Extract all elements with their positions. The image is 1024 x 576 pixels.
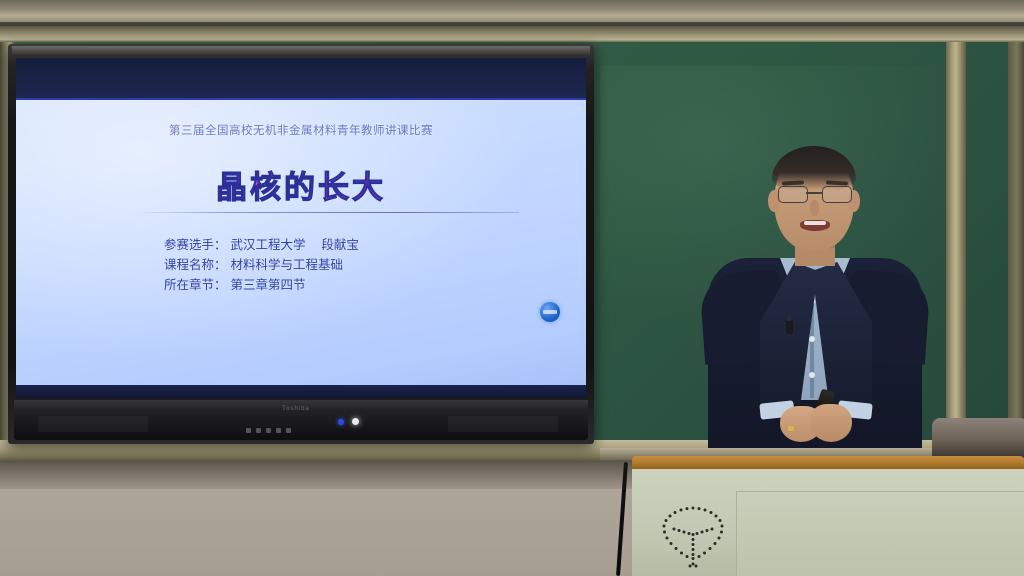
laptop-icon [932, 418, 1024, 458]
presenter-mouth [800, 220, 830, 231]
letterbox-bottom [16, 385, 586, 398]
blue-circular-watermark-logo-icon [540, 302, 560, 322]
slide-info-line-course: 课程名称： 材料科学与工程基础 [164, 255, 584, 275]
display-top-highlight [12, 46, 590, 56]
status-led-white-icon [352, 418, 359, 425]
power-button[interactable] [246, 428, 251, 433]
slide-title: 晶核的长大 [16, 162, 586, 207]
slide-divider-rule [136, 212, 519, 213]
source-button[interactable] [266, 428, 271, 433]
presenter-ring-icon [788, 426, 794, 431]
presenter-nose [810, 200, 819, 216]
podium [632, 456, 1024, 576]
slide-info-block: 参赛选手： 武汉工程大学 段献宝 课程名称： 材料科学与工程基础 所在章节： 第… [164, 235, 584, 295]
chalkboard-right-edge [1008, 40, 1024, 440]
letterbox-top [16, 58, 586, 98]
interactive-flat-panel-display[interactable]: 第三届全国高校无机非金属材料青年教师讲课比赛 晶核的长大 参赛选手： 武汉工程大… [8, 44, 594, 444]
podium-inset-panel [736, 491, 1024, 576]
presenter-shirt-button [809, 336, 815, 342]
slide-info-line-chapter: 所在章节： 第三章第四节 [164, 275, 584, 295]
eyeglasses-bridge [806, 192, 822, 194]
eyeglasses-lens-left [778, 186, 808, 203]
volume-up-button[interactable] [286, 428, 291, 433]
podium-wood-top [632, 456, 1024, 470]
display-brand-label: Toshiba [266, 406, 326, 412]
menu-button[interactable] [256, 428, 261, 433]
volume-down-button[interactable] [276, 428, 281, 433]
presentation-slide[interactable]: 第三届全国高校无机非金属材料青年教师讲课比赛 晶核的长大 参赛选手： 武汉工程大… [16, 98, 586, 385]
eyeglasses-lens-right [822, 186, 852, 203]
presenter [700, 140, 930, 470]
chalkboard-vertical-divider [946, 40, 966, 440]
lapel-microphone-icon [786, 320, 793, 334]
presenter-shirt-button [809, 372, 815, 378]
display-speaker-left [38, 416, 148, 432]
slide-competition-header: 第三届全国高校无机非金属材料青年教师讲课比赛 [16, 122, 586, 138]
chalkboard-top-rail [0, 26, 1024, 42]
slide-info-line-contestant: 参赛选手： 武汉工程大学 段献宝 [164, 235, 584, 255]
presenter-hand-right [810, 404, 852, 442]
power-led-blue-icon [338, 419, 344, 425]
display-screen[interactable]: 第三届全国高校无机非金属材料青年教师讲课比赛 晶核的长大 参赛选手： 武汉工程大… [16, 58, 586, 398]
display-speaker-right [448, 416, 558, 432]
lecture-capture-frame: 第三届全国高校无机非金属材料青年教师讲课比赛 晶核的长大 参赛选手： 武汉工程大… [0, 0, 1024, 576]
perforated-tri-lobe-logo-icon [656, 504, 730, 570]
